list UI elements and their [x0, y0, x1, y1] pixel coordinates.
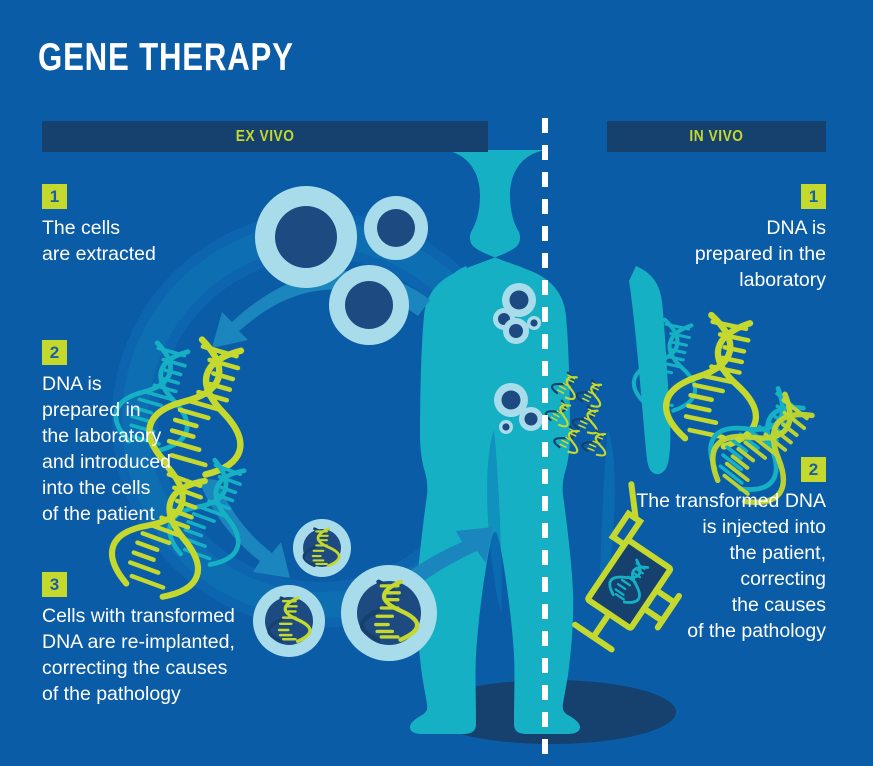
cell [364, 196, 428, 260]
step-badge: 2 [801, 457, 826, 482]
cell [329, 265, 409, 345]
banner-ex-vivo-label: EX VIVO [236, 128, 295, 146]
step-text: DNA is prepared in the laboratory and in… [42, 371, 242, 527]
step-ex-vivo-3: 3 Cells with transformed DNA are re-impl… [42, 572, 322, 707]
banner-in-vivo-label: IN VIVO [689, 128, 743, 146]
body-cell [527, 316, 541, 330]
cell-with-dna [341, 565, 437, 661]
step-ex-vivo-1: 1 The cells are extracted [42, 184, 292, 267]
infographic-canvas: GENE THERAPY EX VIVO IN VIVO 1 The cells… [0, 0, 873, 766]
step-badge: 3 [42, 572, 67, 597]
step-in-vivo-1: 1 DNA is prepared in the laboratory [600, 184, 826, 293]
step-text: DNA is prepared in the laboratory [600, 215, 826, 293]
step-in-vivo-2: 2 The transformed DNA is injected into t… [580, 457, 826, 644]
body-cell [503, 318, 529, 344]
page-title: GENE THERAPY [38, 38, 294, 77]
step-text: The cells are extracted [42, 215, 292, 267]
step-badge: 1 [42, 184, 67, 209]
step-badge: 2 [42, 340, 67, 365]
step-text: Cells with transformed DNA are re-implan… [42, 603, 322, 707]
banner-in-vivo: IN VIVO [607, 121, 826, 152]
step-ex-vivo-2: 2 DNA is prepared in the laboratory and … [42, 340, 242, 527]
body-cell [499, 420, 513, 434]
body-cell [519, 407, 543, 431]
step-text: The transformed DNA is injected into the… [580, 488, 826, 644]
banner-ex-vivo: EX VIVO [42, 121, 488, 152]
step-badge: 1 [801, 184, 826, 209]
cell-with-dna [293, 519, 351, 577]
